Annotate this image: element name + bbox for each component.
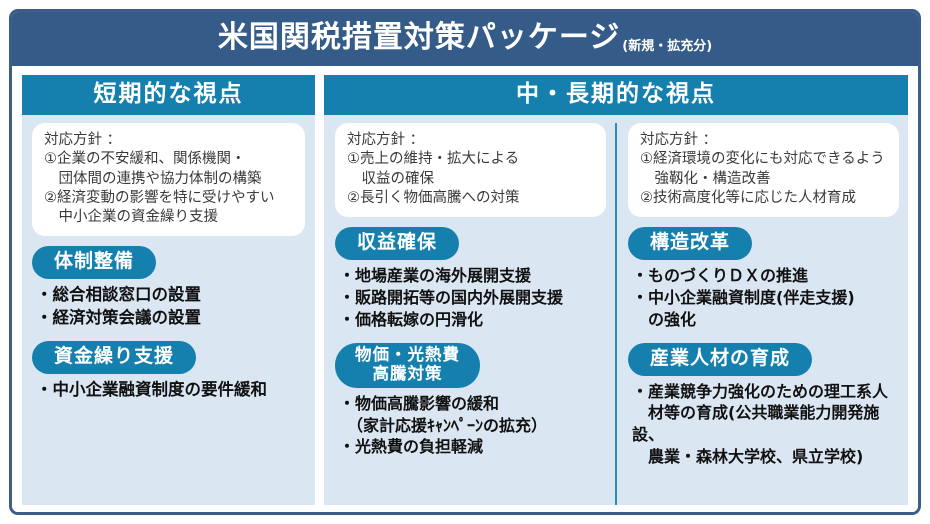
page-title: 米国関税措置対策パッケージ [218, 23, 620, 53]
spacer [32, 414, 305, 505]
poster-title-bar: 米国関税措置対策パッケージ (新規・拡充分) [12, 12, 918, 66]
page-subtitle: (新規・拡充分) [622, 35, 712, 64]
section-block-taisei-seibi: 体制整備 ・総合相談窓口の設置 ・経済対策会議の設置 [32, 246, 305, 341]
pill-heading-taisei-seibi: 体制整備 [32, 246, 156, 279]
column-header-short-term: 短期的な視点 [22, 75, 315, 115]
subcolumn-structure: 対応方針 ： ①経済環境の変化にも対応できるよう 強靱化・構造改善 ②技術高度化… [615, 123, 908, 505]
pill-heading-sangyou-jinzai: 産業人材の育成 [628, 343, 812, 376]
bullet-list-shikinguri-shien: ・中小企業融資制度の要件緩和 [32, 379, 305, 402]
section-block-kouzou-kaikaku: 構造改革 ・ものづくりＤＸの推進 ・中小企業融資制度(伴走支援) の強化 [628, 227, 899, 343]
section-block-sangyou-jinzai: 産業人材の育成 ・産業競争力強化のための理工系人 材等の育成(公共職業能力開発施… [628, 343, 899, 480]
bullet-list-bukka-kounetsuhi: ・物価高騰影響の緩和 （家計応援ｷｬﾝﾍﾟｰﾝの拡充） ・光熱費の負担軽減 [335, 393, 606, 459]
pill-heading-shikinguri-shien: 資金繰り支援 [32, 341, 196, 374]
poster-card: 米国関税措置対策パッケージ (新規・拡充分) 短期的な視点 対応方針 ： ①企業… [9, 9, 921, 515]
column-header-long-term: 中・長期的な視点 [324, 75, 908, 115]
bullet-list-kouzou-kaikaku: ・ものづくりＤＸの推進 ・中小企業融資制度(伴走支援) の強化 [628, 265, 899, 331]
column-long-term: 中・長期的な視点 対応方針 ： ①売上の維持・拡大による 収益の確保 ②長引く物… [324, 75, 908, 505]
pill-wrap: 構造改革 [628, 227, 899, 265]
policy-box-structure: 対応方針 ： ①経済環境の変化にも対応できるよう 強靱化・構造改善 ②技術高度化… [628, 123, 899, 217]
spacer [628, 480, 899, 505]
section-block-shueki-kakuho: 収益確保 ・地場産業の海外展開支援 ・販路開拓等の国内外展開支援 ・価格転嫁の円… [335, 227, 606, 343]
pill-wrap: 収益確保 [335, 227, 606, 265]
bullet-list-taisei-seibi: ・総合相談窓口の設置 ・経済対策会議の設置 [32, 284, 305, 329]
panel-short-term: 対応方針 ： ①企業の不安緩和、関係機関・ 団体間の連携や協力体制の構築 ②経済… [22, 115, 315, 505]
column-short-term: 短期的な視点 対応方針 ： ①企業の不安緩和、関係機関・ 団体間の連携や協力体制… [22, 75, 315, 505]
pill-wrap: 資金繰り支援 [32, 341, 305, 379]
section-block-bukka-kounetsuhi: 物価・光熱費 高騰対策 ・物価高騰影響の緩和 （家計応援ｷｬﾝﾍﾟｰﾝの拡充） … [335, 343, 606, 471]
spacer [335, 470, 606, 505]
pill-wrap: 物価・光熱費 高騰対策 [335, 343, 606, 393]
section-block-shikinguri-shien: 資金繰り支援 ・中小企業融資制度の要件緩和 [32, 341, 305, 413]
policy-box-revenue: 対応方針 ： ①売上の維持・拡大による 収益の確保 ②長引く物価高騰への対策 [335, 123, 606, 217]
pill-heading-shueki-kakuho: 収益確保 [335, 227, 459, 260]
bullet-list-sangyou-jinzai: ・産業競争力強化のための理工系人 材等の育成(公共職業能力開発施設、 農業・森林… [628, 381, 899, 469]
poster-body: 短期的な視点 対応方針 ： ①企業の不安緩和、関係機関・ 団体間の連携や協力体制… [12, 66, 918, 515]
pill-heading-bukka-kounetsuhi: 物価・光熱費 高騰対策 [335, 343, 480, 388]
pill-heading-kouzou-kaikaku: 構造改革 [628, 227, 752, 260]
pill-wrap: 産業人材の育成 [628, 343, 899, 381]
policy-box-short-term: 対応方針 ： ①企業の不安緩和、関係機関・ 団体間の連携や協力体制の構築 ②経済… [32, 123, 305, 236]
bullet-list-shueki-kakuho: ・地場産業の海外展開支援 ・販路開拓等の国内外展開支援 ・価格転嫁の円滑化 [335, 265, 606, 331]
panel-long-term: 対応方針 ： ①売上の維持・拡大による 収益の確保 ②長引く物価高騰への対策 収… [324, 115, 908, 505]
subcolumn-revenue: 対応方針 ： ①売上の維持・拡大による 収益の確保 ②長引く物価高騰への対策 収… [324, 123, 615, 505]
pill-wrap: 体制整備 [32, 246, 305, 284]
